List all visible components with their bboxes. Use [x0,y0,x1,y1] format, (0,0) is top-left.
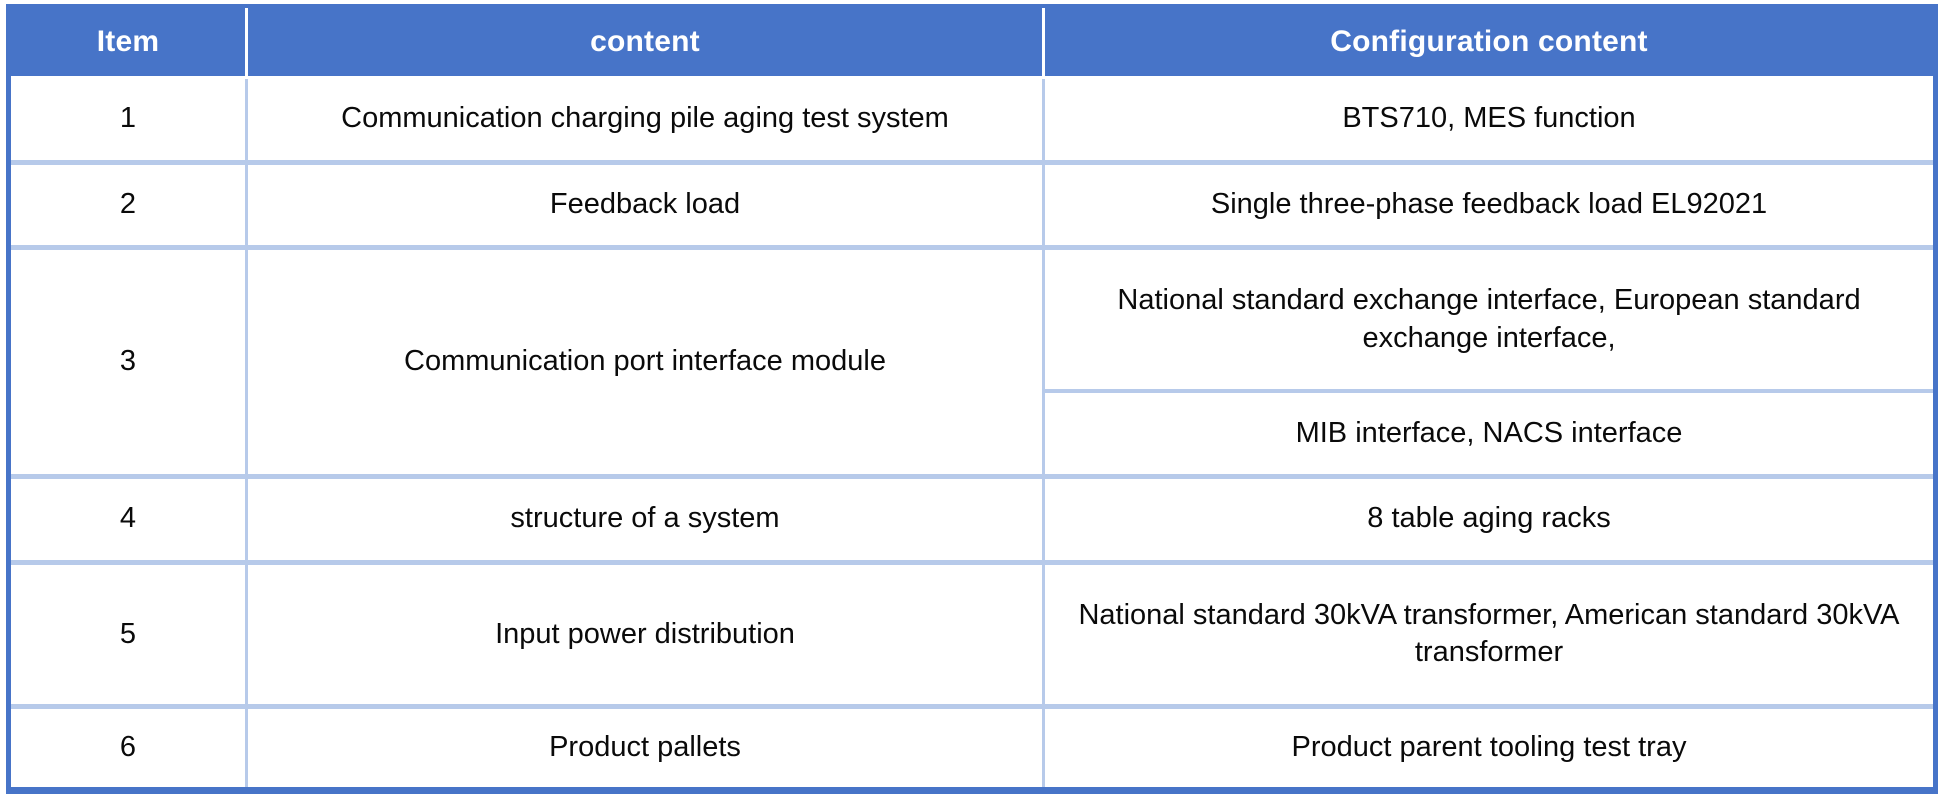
header-item: Item [11,8,248,79]
table-row: 4 structure of a system 8 table aging ra… [11,479,1933,565]
table-container: Item content Configuration content 1 Com… [0,0,1938,800]
header-row: Item content Configuration content [11,8,1933,79]
table-row: 5 Input power distribution National stan… [11,565,1933,710]
cell-item: 2 [11,165,248,251]
header-configuration-content: Configuration content [1045,8,1933,79]
table-row: 3 Communication port interface module Na… [11,250,1933,393]
cell-configuration: Single three-phase feedback load EL92021 [1045,165,1933,251]
cell-item: 5 [11,565,248,710]
cell-configuration-part-2: MIB interface, NACS interface [1045,393,1933,479]
cell-content: structure of a system [248,479,1045,565]
cell-configuration: National standard 30kVA transformer, Ame… [1045,565,1933,710]
cell-item: 6 [11,709,248,787]
cell-configuration-part-1: National standard exchange interface, Eu… [1045,250,1933,393]
table-body: 1 Communication charging pile aging test… [11,79,1933,787]
cell-content: Product pallets [248,709,1045,787]
table-row: 2 Feedback load Single three-phase feedb… [11,165,1933,251]
cell-item: 4 [11,479,248,565]
cell-configuration: Product parent tooling test tray [1045,709,1933,787]
cell-item: 3 [11,250,248,479]
table-row: 1 Communication charging pile aging test… [11,79,1933,165]
cell-item: 1 [11,79,248,165]
cell-content: Communication charging pile aging test s… [248,79,1045,165]
header-content: content [248,8,1045,79]
cell-configuration: BTS710, MES function [1045,79,1933,165]
cell-configuration: 8 table aging racks [1045,479,1933,565]
cell-content: Feedback load [248,165,1045,251]
cell-content: Communication port interface module [248,250,1045,479]
configuration-spec-table: Item content Configuration content 1 Com… [6,4,1938,794]
cell-content: Input power distribution [248,565,1045,710]
table-row: 6 Product pallets Product parent tooling… [11,709,1933,787]
table-header: Item content Configuration content [11,8,1933,79]
